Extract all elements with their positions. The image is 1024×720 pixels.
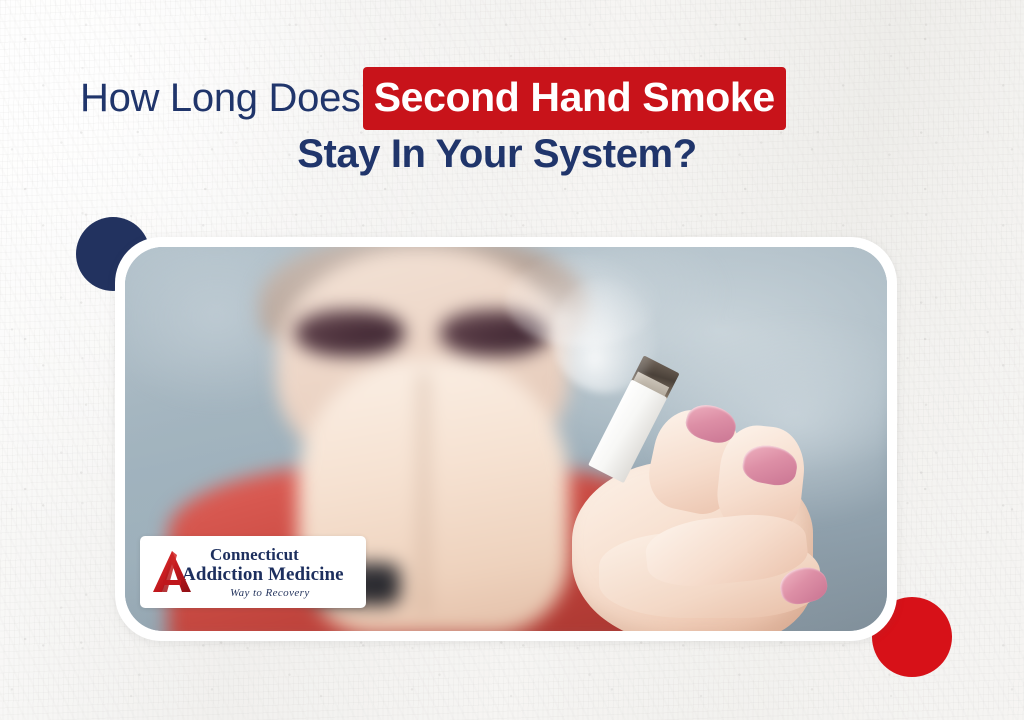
brand-name-line-1: Connecticut — [196, 546, 344, 563]
headline-line-2: Stay In Your System? — [0, 132, 1024, 176]
letter-a-logo-icon — [150, 548, 194, 596]
photo-foreground-hand — [552, 385, 887, 631]
brand-logo-badge[interactable]: Connecticut Addiction Medicine Way to Re… — [140, 536, 366, 608]
poster-canvas: How Long Does Second Hand Smoke Stay In … — [0, 0, 1024, 720]
headline-block: How Long Does Second Hand Smoke Stay In … — [0, 70, 1024, 176]
brand-name-line-2: Addiction Medicine — [182, 565, 344, 584]
sunglasses-left-lens — [295, 310, 404, 356]
headline-second-line-text: Stay In Your System? — [297, 132, 697, 176]
brand-tagline: Way to Recovery — [196, 588, 344, 599]
headline-plain-text: How Long Does — [80, 78, 361, 118]
photo-woman-finger-gap — [419, 373, 428, 614]
headline-line-1: How Long Does Second Hand Smoke — [0, 70, 1024, 126]
smoke-wisp-2 — [506, 255, 658, 347]
brand-logo-text: Connecticut Addiction Medicine Way to Re… — [196, 546, 344, 599]
headline-highlight-text: Second Hand Smoke — [363, 67, 786, 130]
